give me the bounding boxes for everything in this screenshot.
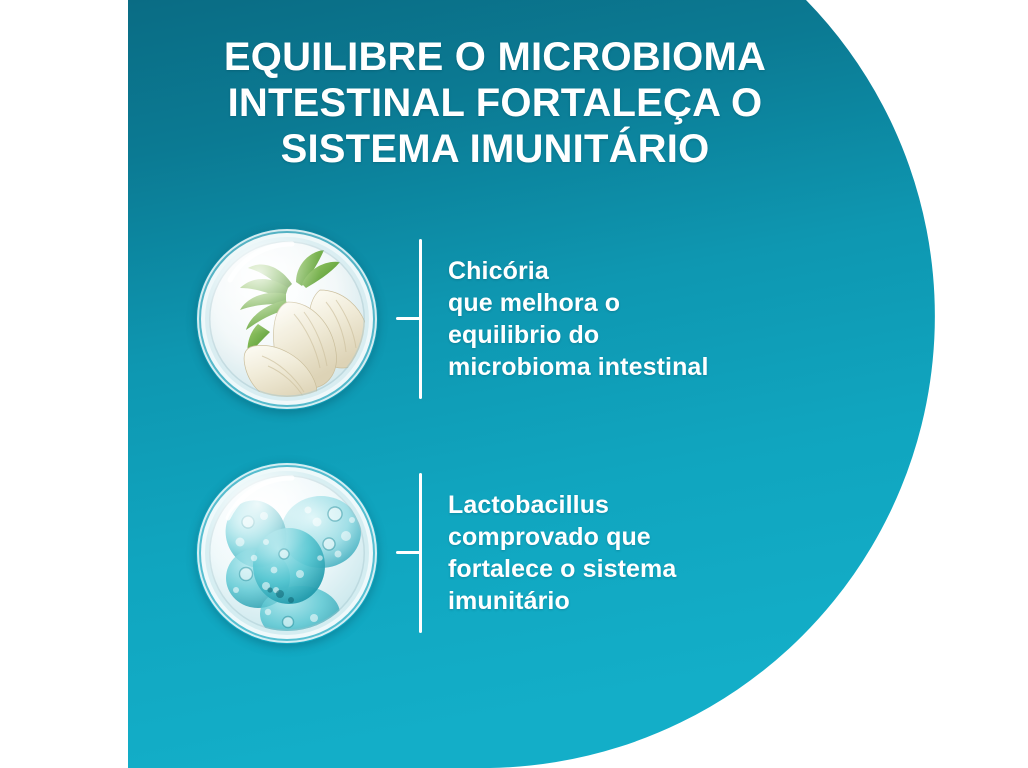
chicory-roots-petri-dish-image (196, 228, 378, 410)
feature-item-chicoria: Chicória que melhora o equilibrio do mic… (196, 228, 709, 410)
promotional-poster: EQUILIBRE O MICROBIOMA INTESTINAL FORTAL… (0, 0, 1028, 768)
feature2-line-1: Lactobacillus (448, 489, 676, 521)
chicory-illustration (196, 228, 378, 410)
divider-tick-mark (396, 551, 422, 554)
feature2-line-4: imunitário (448, 585, 676, 617)
headline-line-3: SISTEMA IMUNITÁRIO (150, 126, 840, 172)
gel-bubbles-illustration (196, 462, 378, 644)
divider-tick-mark (396, 317, 422, 320)
lactobacillus-gel-bubbles-image (196, 462, 378, 644)
headline-line-1: EQUILIBRE O MICROBIOMA (150, 34, 840, 80)
feature1-line-2: que melhora o (448, 287, 709, 319)
feature1-line-3: equilibrio do (448, 319, 709, 351)
feature2-line-2: comprovado que (448, 521, 676, 553)
feature-item-lactobacillus: Lactobacillus comprovado que fortalece o… (196, 462, 676, 644)
feature1-line-1: Chicória (448, 255, 709, 287)
feature-divider-1 (396, 239, 426, 399)
feature-text-chicoria: Chicória que melhora o equilibrio do mic… (448, 255, 709, 383)
page-title: EQUILIBRE O MICROBIOMA INTESTINAL FORTAL… (150, 34, 840, 172)
feature1-line-4: microbioma intestinal (448, 351, 709, 383)
feature-text-lactobacillus: Lactobacillus comprovado que fortalece o… (448, 489, 676, 617)
headline-line-2: INTESTINAL FORTALEÇA O (150, 80, 840, 126)
feature2-line-3: fortalece o sistema (448, 553, 676, 585)
feature-divider-2 (396, 473, 426, 633)
